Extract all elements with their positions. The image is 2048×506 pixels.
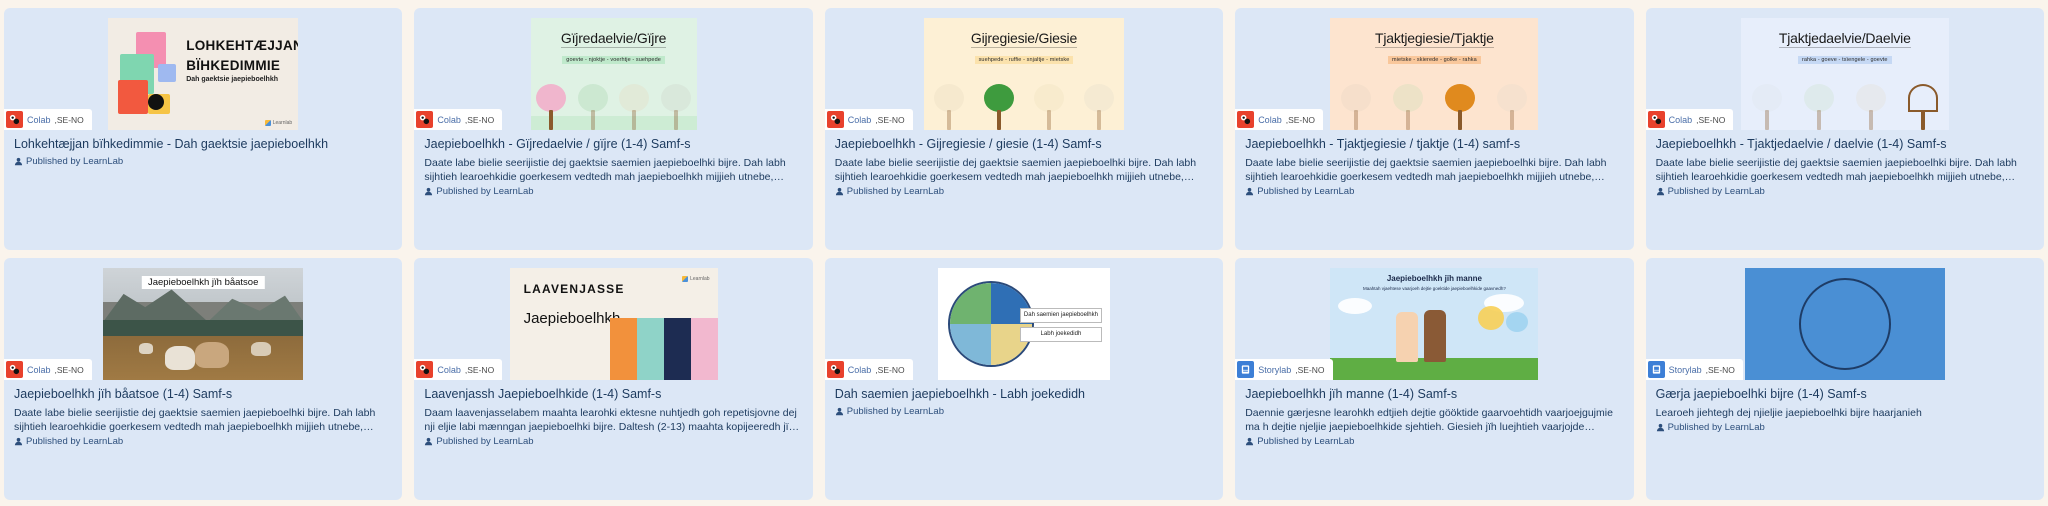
tree-illustration [531,74,697,130]
card-meta: Jaepieboelhkh - Gijregiesie / giesie (1-… [825,130,1223,250]
provider-badge[interactable]: Storylab ,SE-NO [1235,359,1332,380]
tree-illustration [924,74,1124,130]
card-meta: Jaepieboelhkh jïh manne (1-4) Samf-s Dae… [1235,380,1633,500]
kids-illustration: Jaepieboelhkh jïh manne Maahtah vjaehtes… [1330,268,1538,380]
thumb-heading: Gijregiesie/Giesie [971,18,1077,48]
provider-badge[interactable]: Colab ,SE-NO [825,109,913,130]
photo-caption: Jaepieboelhkh jïh båatsoe [142,276,264,289]
card-meta: Jaepieboelhkh - Gïjredaelvie / gïjre (1-… [414,130,812,250]
colab-icon [6,361,23,378]
colab-icon [416,111,433,128]
colab-icon [827,361,844,378]
card-meta: Jaepieboelhkh - Tjaktjegiesie / tjaktje … [1235,130,1633,250]
card-title[interactable]: Dah saemien jaepieboelhkh - Labh joekedi… [835,387,1213,403]
card-meta: Jaepieboelhkh - Tjaktjedaelvie / daelvie… [1646,130,2044,250]
card-title[interactable]: Jaepieboelhkh - Tjaktjedaelvie / daelvie… [1656,137,2034,153]
storylab-icon [1648,361,1665,378]
card-description: Daate labe bielie seerijistie dej gaekts… [424,156,802,184]
storylab-icon [1237,361,1254,378]
resource-card[interactable]: LAAVENJASSE Jaepieboelhkh Learnlab [414,258,812,500]
resource-card[interactable]: Gijregiesie/Giesie suehpede - ruffie - s… [825,8,1223,250]
provider-name: Storylab [1258,365,1291,375]
card-meta: Jaepieboelhkh jïh båatsoe (1-4) Samf-s D… [4,380,402,500]
resource-card[interactable]: LOHKEHTÆJJAN BÏHKEDIMMIE Dah gaektsie ja… [4,8,402,250]
card-thumbnail[interactable]: Jaepieboelhkh jïh manne Maahtah vjaehtes… [1235,258,1633,380]
provider-name: Colab [437,365,461,375]
card-publisher: Published by LearnLab [14,156,392,167]
provider-name: Colab [1258,115,1282,125]
card-publisher: Published by LearnLab [424,436,802,447]
card-title[interactable]: Jaepieboelhkh - Gïjredaelvie / gïjre (1-… [424,137,802,153]
card-description: Learoeh jiehtegh dej njieljie jaepieboel… [1656,406,2034,420]
card-meta: Lohkehtæjjan bïhkedimmie - Dah gaektsie … [4,130,402,250]
thumb-heading: Jaepieboelhkh jïh manne [1387,274,1482,283]
provider-badge[interactable]: Colab ,SE-NO [1646,109,1734,130]
thumb-heading: LOHKEHTÆJJAN BÏHKEDIMMIE [186,36,298,75]
provider-locale: ,SE-NO [875,365,904,375]
thumb-subheading: Dah gaektsie jaepieboelhkh [186,76,278,83]
provider-locale: ,SE-NO [465,365,494,375]
provider-locale: ,SE-NO [55,365,84,375]
card-publisher: Published by LearnLab [1245,186,1623,197]
provider-name: Colab [848,365,872,375]
card-thumbnail[interactable]: Storylab ,SE-NO [1646,258,2044,380]
thumb-subheading: rahka - goeve - tsïengele - goevte [1798,56,1892,64]
provider-locale: ,SE-NO [875,115,904,125]
card-title[interactable]: Lohkehtæjjan bïhkedimmie - Dah gaektsie … [14,137,392,153]
card-thumbnail[interactable]: LAAVENJASSE Jaepieboelhkh Learnlab [414,258,812,380]
card-description: Daate labe bielie seerijistie dej gaekts… [14,406,392,434]
provider-name: Colab [27,365,51,375]
thumb-heading: LAAVENJASSE [524,282,625,296]
resource-card[interactable]: Dah saemien jaepieboelhkh Labh joekedidh… [825,258,1223,500]
card-meta: Laavenjassh Jaepieboelhkide (1-4) Samf-s… [414,380,812,500]
colab-icon [1237,111,1254,128]
illustration-art [610,318,718,380]
colab-icon [416,361,433,378]
provider-locale: ,SE-NO [1706,365,1735,375]
resource-card[interactable]: Storylab ,SE-NO Gærja jaepieboelhki bijr… [1646,258,2044,500]
card-thumbnail[interactable]: Dah saemien jaepieboelhkh Labh joekedidh… [825,258,1223,380]
provider-locale: ,SE-NO [55,115,84,125]
card-title[interactable]: Gærja jaepieboelhki bijre (1-4) Samf-s [1656,387,2034,403]
provider-locale: ,SE-NO [1286,115,1315,125]
card-publisher: Published by LearnLab [1656,186,2034,197]
illustration-tiles [118,32,180,114]
colab-icon [827,111,844,128]
card-thumbnail[interactable]: Jaepieboelhkh jïh båatsoe Colab ,SE-NO [4,258,402,380]
card-meta: Dah saemien jaepieboelhkh - Labh joekedi… [825,380,1223,500]
provider-badge[interactable]: Colab ,SE-NO [4,109,92,130]
thumb-heading: Tjaktjegiesie/Tjaktje [1375,18,1494,48]
card-meta: Gærja jaepieboelhki bijre (1-4) Samf-s L… [1646,380,2044,500]
thumb-subheading: goevte - njoktje - voerhtje - suehpede [562,56,665,64]
provider-badge[interactable]: Colab ,SE-NO [414,359,502,380]
learnlab-logo: Learnlab [682,276,709,282]
card-publisher: Published by LearnLab [424,186,802,197]
card-description: Daennie gærjesne learohkh edtjieh dejtie… [1245,406,1623,434]
provider-locale: ,SE-NO [1295,365,1324,375]
card-description: Daate labe bielie seerijistie dej gaekts… [1245,156,1623,184]
provider-badge[interactable]: Colab ,SE-NO [414,109,502,130]
thumb-subheading: Maahtah vjaehtese vaarjoeh dejtie goekti… [1363,286,1506,293]
card-publisher: Published by LearnLab [1245,436,1623,447]
card-title[interactable]: Jaepieboelhkh jïh manne (1-4) Samf-s [1245,387,1623,403]
card-thumbnail[interactable]: LOHKEHTÆJJAN BÏHKEDIMMIE Dah gaektsie ja… [4,8,402,130]
resource-card-grid: LOHKEHTÆJJAN BÏHKEDIMMIE Dah gaektsie ja… [0,0,2048,506]
wheel-labels: Dah saemien jaepieboelhkh Labh joekedidh [1020,308,1102,346]
card-title[interactable]: Jaepieboelhkh - Gijregiesie / giesie (1-… [835,137,1213,153]
resource-card[interactable]: Jaepieboelhkh jïh båatsoe Colab ,SE-NO J… [4,258,402,500]
colab-icon [1648,111,1665,128]
resource-card[interactable]: Tjaktjedaelvie/Daelvie rahka - goeve - t… [1646,8,2044,250]
card-publisher: Published by LearnLab [835,406,1213,417]
reindeer-photo: Jaepieboelhkh jïh båatsoe [103,268,303,380]
card-thumbnail[interactable]: Gijregiesie/Giesie suehpede - ruffie - s… [825,8,1223,130]
colab-icon [6,111,23,128]
card-title[interactable]: Jaepieboelhkh jïh båatsoe (1-4) Samf-s [14,387,392,403]
provider-name: Colab [848,115,872,125]
resource-card[interactable]: Jaepieboelhkh jïh manne Maahtah vjaehtes… [1235,258,1633,500]
thumb-subheading: Jaepieboelhkh [524,310,621,327]
card-thumbnail[interactable]: Tjaktjegiesie/Tjaktje mietske - skierede… [1235,8,1633,130]
card-description: Daate labe bielie seerijistie dej gaekts… [1656,156,2034,184]
thumb-heading: Gïjredaelvie/Gïjre [561,18,666,48]
thumb-heading: Tjaktjedaelvie/Daelvie [1779,18,1911,48]
card-thumbnail[interactable]: Tjaktjedaelvie/Daelvie rahka - goeve - t… [1646,8,2044,130]
resource-card[interactable]: Tjaktjegiesie/Tjaktje mietske - skierede… [1235,8,1633,250]
provider-locale: ,SE-NO [1696,115,1725,125]
season-wheel-blue [1745,268,1945,380]
provider-badge[interactable]: Colab ,SE-NO [1235,109,1323,130]
card-title[interactable]: Laavenjassh Jaepieboelhkide (1-4) Samf-s [424,387,802,403]
card-publisher: Published by LearnLab [14,436,392,447]
tree-illustration [1741,74,1949,130]
learnlab-logo: Learnlab [265,120,292,126]
card-description: Daam laavenjasselabem maahta learohki ek… [424,406,802,434]
provider-name: Colab [27,115,51,125]
provider-badge[interactable]: Colab ,SE-NO [825,359,913,380]
resource-card[interactable]: Gïjredaelvie/Gïjre goevte - njoktje - vo… [414,8,812,250]
provider-locale: ,SE-NO [465,115,494,125]
provider-name: Storylab [1669,365,1702,375]
provider-name: Colab [437,115,461,125]
card-thumbnail[interactable]: Gïjredaelvie/Gïjre goevte - njoktje - vo… [414,8,812,130]
card-description: Daate labe bielie seerijistie dej gaekts… [835,156,1213,184]
provider-name: Colab [1669,115,1693,125]
thumb-subheading: mietske - skierede - golke - rahka [1388,56,1481,64]
card-title[interactable]: Jaepieboelhkh - Tjaktjegiesie / tjaktje … [1245,137,1623,153]
tree-illustration [1330,74,1538,130]
card-publisher: Published by LearnLab [1656,422,2034,433]
thumb-subheading: suehpede - ruffie - snjaltje - mietske [975,56,1074,64]
card-publisher: Published by LearnLab [835,186,1213,197]
provider-badge[interactable]: Colab ,SE-NO [4,359,92,380]
provider-badge[interactable]: Storylab ,SE-NO [1646,359,1743,380]
